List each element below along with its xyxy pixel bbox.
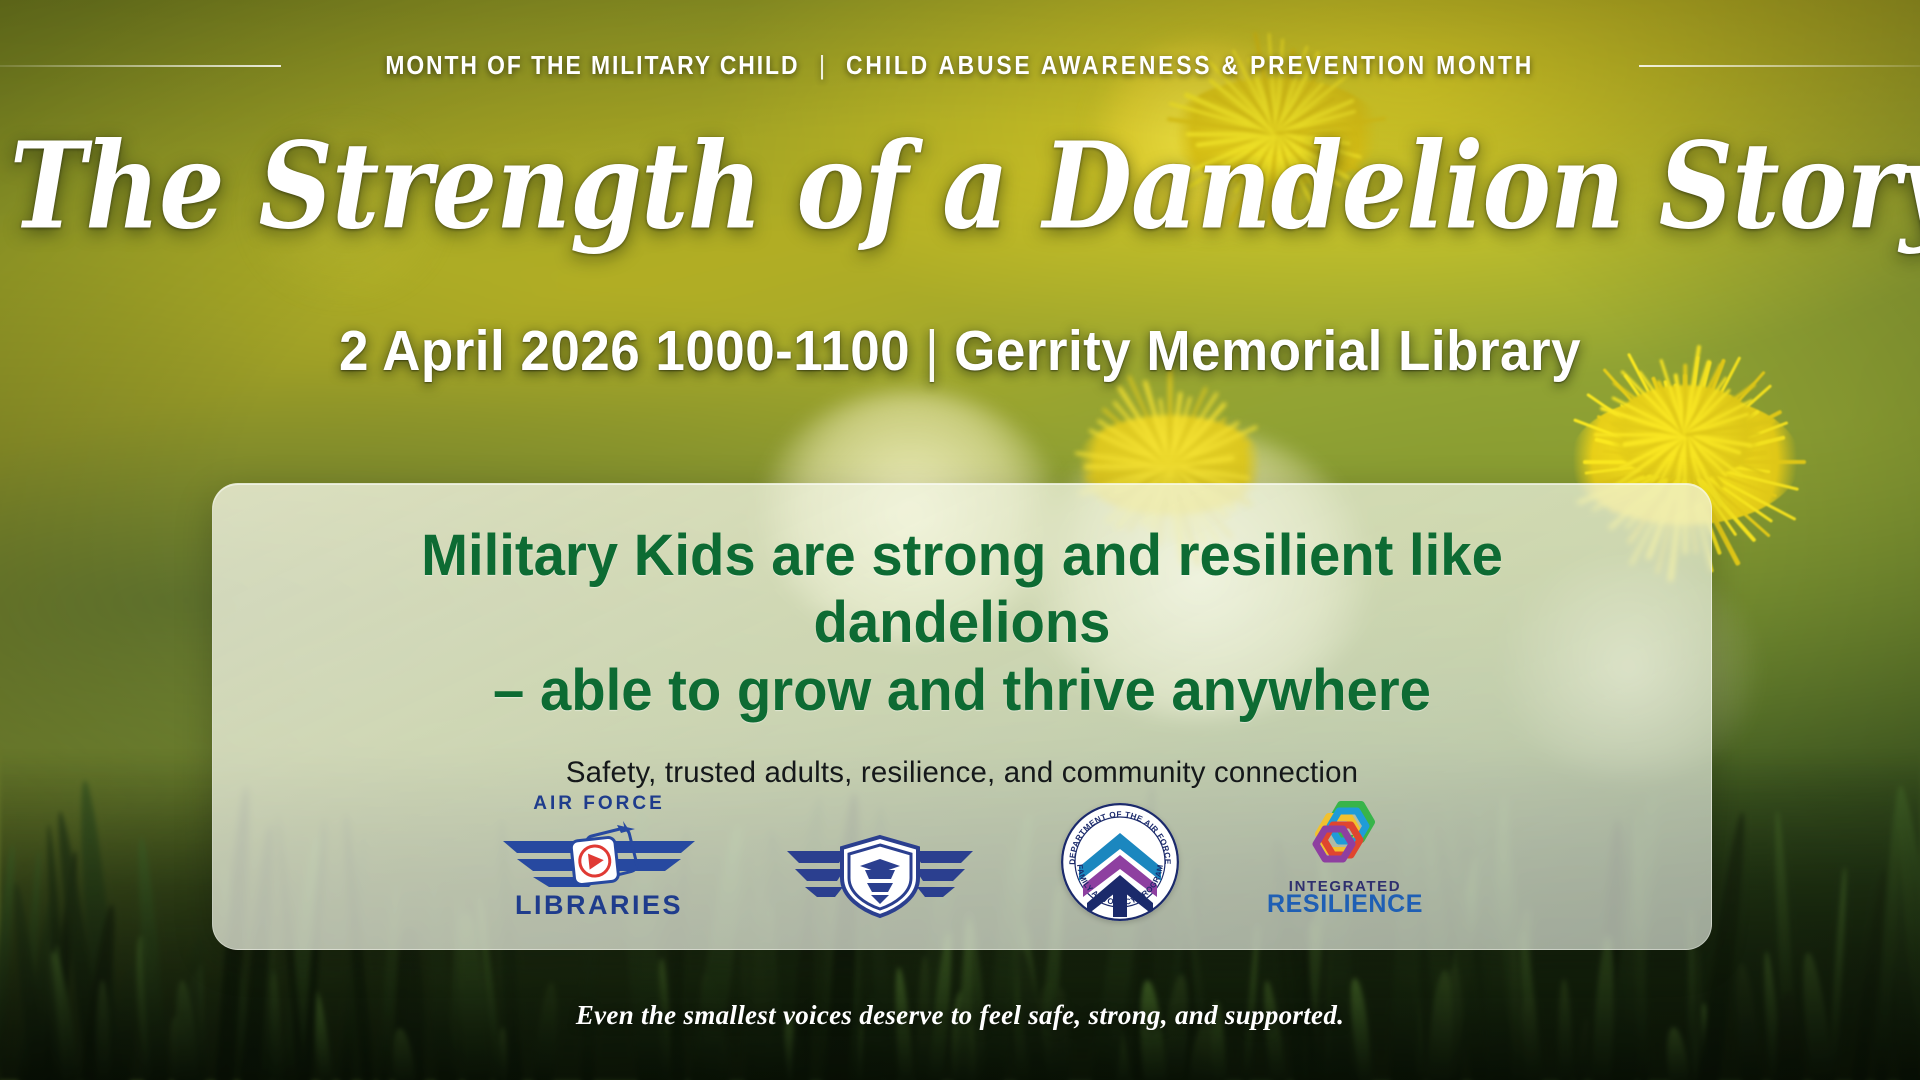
af-libraries-wings-icon	[499, 813, 699, 899]
details-separator: |	[910, 319, 954, 383]
air-force-libraries-logo: AIR FORCE	[499, 793, 699, 921]
event-details-line: 2 April 2026 1000-11001000-1100|Gerrity …	[67, 318, 1853, 384]
resilience-hexagon-icon	[1265, 799, 1425, 875]
awareness-banner: MONTH OF THE MILITARY CHILD | CHILD ABUS…	[0, 50, 1920, 81]
message-card: Military Kids are strong and resilient l…	[212, 483, 1712, 950]
banner-label-child-abuse-awareness: CHILD ABUSE AWARENESS & PREVENTION MONTH	[846, 50, 1534, 81]
daf-family-advocacy-seal-logo: DEPARTMENT OF THE AIR FORCE FAMILY ADVOC…	[1061, 803, 1179, 921]
event-date-time: 2 April 2026 1000-1100	[339, 319, 910, 383]
banner-text: MONTH OF THE MILITARY CHILD | CHILD ABUS…	[386, 50, 1535, 81]
card-headline-line1: Military Kids are strong and resilient l…	[421, 523, 1503, 655]
af-libraries-bottom-label: LIBRARIES	[515, 890, 683, 921]
banner-separator: |	[819, 50, 828, 81]
card-headline-line2: – able to grow and thrive anywhere	[290, 657, 1634, 724]
banner-label-military-child: MONTH OF THE MILITARY CHILD	[386, 50, 800, 81]
card-tagline: Safety, trusted adults, resilience, and …	[283, 756, 1641, 790]
logo-strip: AIR FORCE	[213, 793, 1711, 921]
poster-canvas: MONTH OF THE MILITARY CHILD | CHILD ABUS…	[0, 0, 1920, 1080]
poster-footer-note: Even the smallest voices deserve to feel…	[0, 1000, 1920, 1031]
af-libraries-top-label: AIR FORCE	[533, 793, 665, 815]
family-advocacy-seal-icon: DEPARTMENT OF THE AIR FORCE FAMILY ADVOC…	[1061, 803, 1179, 921]
integrated-resilience-bottom-label: RESILIENCE	[1267, 890, 1423, 919]
banner-rule-left	[0, 65, 281, 67]
banner-rule-right	[1639, 65, 1920, 67]
integrated-resilience-logo: INTEGRATED RESILIENCE	[1265, 801, 1425, 921]
poster-content: MONTH OF THE MILITARY CHILD | CHILD ABUS…	[0, 0, 1920, 1080]
event-venue: Gerrity Memorial Library	[954, 319, 1581, 383]
card-headline: Military Kids are strong and resilient l…	[290, 522, 1634, 724]
air-force-education-shield-logo	[785, 821, 975, 921]
poster-title: The Strength of a Dandelion Storytime	[10, 126, 1911, 247]
shield-wings-icon	[785, 821, 975, 921]
